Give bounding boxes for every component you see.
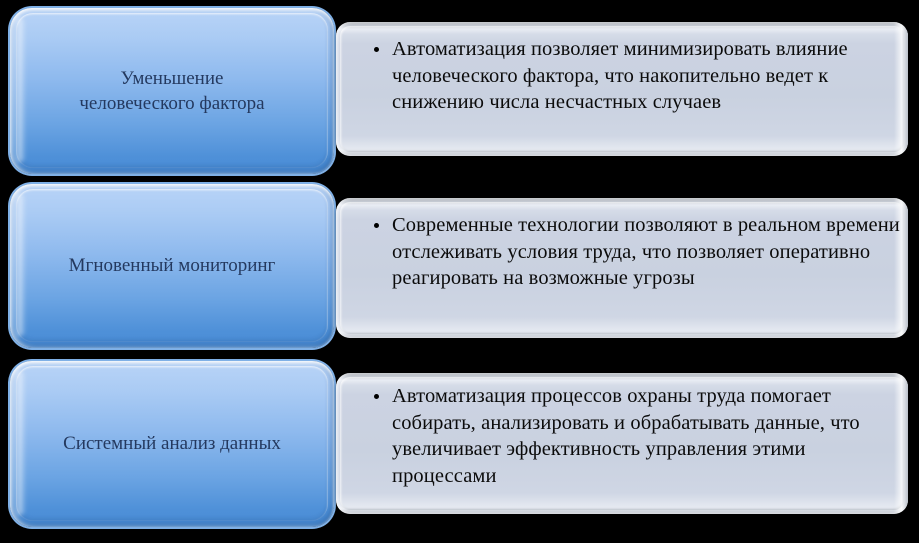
category-box-instant-monitoring[interactable]: Мгновенный мониторинг: [10, 184, 334, 348]
bullet-list: Современные технологии позволяют в реаль…: [336, 198, 908, 292]
list-item: Автоматизация позволяет минимизировать в…: [336, 36, 908, 116]
list-item: Современные технологии позволяют в реаль…: [336, 212, 908, 292]
diagram-canvas: Уменьшение человеческого фактора Автомат…: [0, 0, 919, 543]
list-item-text: Автоматизация позволяет минимизировать в…: [392, 38, 848, 113]
category-label: Системный анализ данных: [47, 431, 297, 456]
description-box-reduce-human-factor[interactable]: Автоматизация позволяет минимизировать в…: [336, 22, 908, 156]
bullet-dot-icon: [374, 394, 379, 399]
list-item-text: Автоматизация процессов охраны труда пом…: [392, 385, 860, 487]
list-item: Автоматизация процессов охраны труда пом…: [336, 383, 908, 490]
diagram-row: Системный анализ данных Автоматизация пр…: [0, 362, 919, 543]
bullet-list: Автоматизация процессов охраны труда пом…: [336, 373, 908, 490]
diagram-row: Мгновенный мониторинг Современные технол…: [0, 180, 919, 362]
category-label: Уменьшение человеческого фактора: [63, 66, 280, 116]
description-box-instant-monitoring[interactable]: Современные технологии позволяют в реаль…: [336, 198, 908, 338]
diagram-row: Уменьшение человеческого фактора Автомат…: [0, 0, 919, 180]
bullet-list: Автоматизация позволяет минимизировать в…: [336, 22, 908, 116]
category-box-reduce-human-factor[interactable]: Уменьшение человеческого фактора: [10, 8, 334, 174]
bullet-dot-icon: [374, 47, 379, 52]
description-box-system-data-analysis[interactable]: Автоматизация процессов охраны труда пом…: [336, 373, 908, 514]
list-item-text: Современные технологии позволяют в реаль…: [392, 214, 900, 289]
category-label: Мгновенный мониторинг: [53, 253, 292, 278]
bullet-dot-icon: [374, 223, 379, 228]
category-box-system-data-analysis[interactable]: Системный анализ данных: [10, 361, 334, 527]
